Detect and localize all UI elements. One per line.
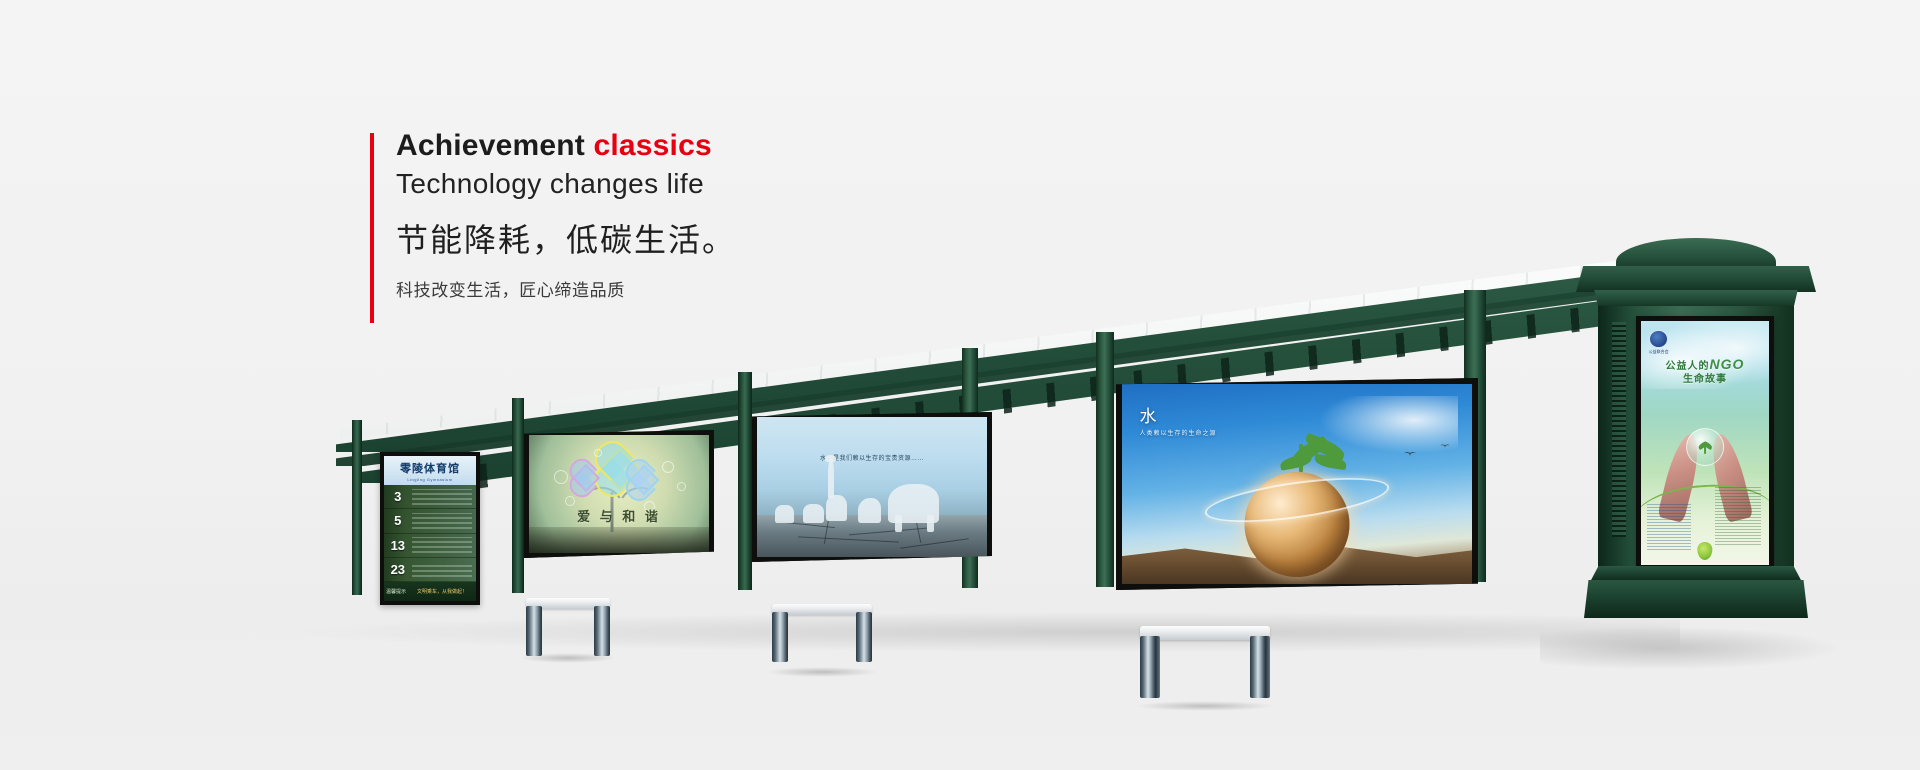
pillar-vent-grille — [1612, 322, 1626, 537]
shelter-ground-shadow — [300, 612, 1680, 652]
animal-silhouette-giraffe-neck — [828, 459, 834, 498]
pillar-plinth — [1584, 580, 1808, 618]
timetable-subtitle: Lingling Gymnasium — [407, 477, 452, 482]
sprout-leaf — [1279, 453, 1312, 470]
ground-crack — [916, 521, 922, 543]
ngo-headline-line1: 公益人的 — [1666, 361, 1710, 372]
timetable-board: 零陵体育馆 Lingling Gymnasium 3 5 — [384, 456, 476, 601]
ground-crack — [798, 537, 899, 543]
animal-silhouette-elephant-leg — [927, 515, 934, 532]
bench-leg-left — [772, 612, 788, 662]
timetable-title: 零陵体育馆 — [400, 460, 460, 476]
route-number: 23 — [384, 562, 412, 577]
ad-screen-ngo: 公益联合会 公益人的NGO 生命故事 — [1641, 321, 1769, 565]
animal-silhouette-camel — [858, 498, 881, 523]
pillar-plinth-upper — [1590, 566, 1802, 582]
ngo-headline: 公益人的NGO 生命故事 — [1641, 358, 1769, 386]
bird-silhouette — [1404, 452, 1416, 457]
ad-screen-love-harmony: 爱 与 和 谐 — [529, 435, 709, 553]
route-number: 13 — [384, 538, 412, 553]
ad-caption-water-resource: 水，是我们赖以生存的宝贵资源…… — [757, 453, 987, 462]
bus-shelter: 零陵体育馆 Lingling Gymnasium 3 5 — [0, 0, 1920, 770]
bench-1 — [526, 598, 610, 656]
support-column-3 — [738, 372, 752, 590]
timetable-lightbox[interactable]: 零陵体育馆 Lingling Gymnasium 3 5 — [380, 452, 480, 605]
ad-artwork-ngo: 公益联合会 公益人的NGO 生命故事 — [1641, 321, 1769, 565]
ad-lightbox-ngo[interactable]: 公益联合会 公益人的NGO 生命故事 — [1636, 316, 1774, 570]
sprout-stem — [1299, 444, 1303, 472]
ground-crack — [824, 519, 829, 544]
support-column-2 — [512, 398, 524, 593]
orb-sprout-stem — [1704, 446, 1705, 454]
decorative-bubble — [677, 482, 686, 491]
animal-silhouette-elephant-leg — [895, 515, 902, 532]
animal-silhouette-giraffe-head — [825, 455, 837, 462]
route-number: 5 — [384, 513, 412, 528]
timetable-row[interactable]: 5 — [384, 509, 476, 533]
ad-title-water: 水 — [1140, 402, 1157, 427]
ngo-logo-disc — [1649, 330, 1668, 349]
animal-silhouette-lion — [803, 504, 824, 524]
ngo-logo: 公益联合会 — [1649, 330, 1677, 356]
decorative-bubble — [554, 470, 568, 484]
ad-lightbox-water-resource[interactable]: 水，是我们赖以生存的宝贵资源…… — [752, 412, 992, 562]
animal-silhouette-giraffe-body — [826, 495, 847, 520]
decorative-bubble — [662, 461, 674, 473]
ad-caption-water-life: 人类赖以生存的生命之源 — [1140, 428, 1217, 437]
ground-crack — [900, 538, 968, 549]
ad-screen-water-life: 水 人类赖以生存的生命之源 — [1122, 384, 1472, 584]
bench-leg-left — [1140, 636, 1160, 698]
ad-caption-love-harmony: 爱 与 和 谐 — [529, 506, 709, 525]
ngo-headline-big: NGO — [1710, 356, 1745, 372]
bench-leg-right — [1250, 636, 1270, 698]
ngo-body-text-right — [1715, 487, 1761, 546]
timetable-header: 零陵体育馆 Lingling Gymnasium — [384, 456, 476, 485]
route-stop-strip — [412, 537, 472, 553]
pillar-cornice — [1576, 266, 1816, 292]
ad-lightbox-love-harmony[interactable]: 爱 与 和 谐 — [524, 430, 714, 558]
ngo-body-text-left — [1647, 502, 1691, 551]
scene-canvas: Achievement classics Technology changes … — [0, 0, 1920, 770]
support-column-5 — [1096, 332, 1114, 587]
ad-artwork-water-life: 水 人类赖以生存的生命之源 — [1122, 384, 1472, 584]
bench-leg-right — [594, 606, 610, 656]
bench-shadow — [766, 667, 878, 677]
bird-silhouette — [1440, 445, 1450, 449]
bench-leg-right — [856, 612, 872, 662]
bench-2 — [772, 604, 872, 670]
timetable-row[interactable]: 3 — [384, 485, 476, 509]
ad-artwork-animals: 水，是我们赖以生存的宝贵资源…… — [757, 417, 987, 557]
glass-orb — [1686, 428, 1725, 467]
route-stop-strip — [412, 513, 472, 529]
ground-crack — [849, 528, 927, 536]
route-stop-strip — [412, 489, 472, 505]
ad-screen-water-resource: 水，是我们赖以生存的宝贵资源…… — [757, 417, 987, 557]
timetable-screen: 零陵体育馆 Lingling Gymnasium 3 5 — [384, 456, 476, 601]
bench-3 — [1140, 626, 1270, 704]
timetable-route-list: 3 5 13 23 — [384, 485, 476, 582]
heart-shape-left — [572, 464, 600, 492]
ngo-logo-label: 公益联合会 — [1649, 349, 1677, 355]
pillar-ground-shadow — [1540, 626, 1840, 670]
ad-lightbox-water-life[interactable]: 水 人类赖以生存的生命之源 — [1116, 378, 1478, 590]
bench-shadow — [1134, 701, 1276, 711]
ad-artwork-heart-tree: 爱 与 和 谐 — [529, 435, 709, 553]
timetable-footer: 温馨提示 文明乘车，从我做起！ — [384, 582, 476, 601]
timetable-footer-notice: 文明乘车，从我做起！ — [408, 588, 476, 595]
support-column-1 — [352, 420, 362, 595]
ad-ground — [529, 527, 709, 553]
ngo-headline-line2: 生命故事 — [1683, 374, 1727, 385]
seed-graphic — [1697, 542, 1712, 560]
timetable-row[interactable]: 23 — [384, 558, 476, 582]
timetable-row[interactable]: 13 — [384, 534, 476, 558]
route-stop-strip — [412, 562, 472, 578]
route-number: 3 — [384, 489, 412, 504]
animal-silhouette-zebra — [775, 505, 793, 523]
decorative-bubble — [594, 449, 602, 457]
bench-leg-left — [526, 606, 542, 656]
heart-shape-right — [629, 465, 660, 496]
timetable-footer-label: 温馨提示 — [384, 588, 408, 595]
